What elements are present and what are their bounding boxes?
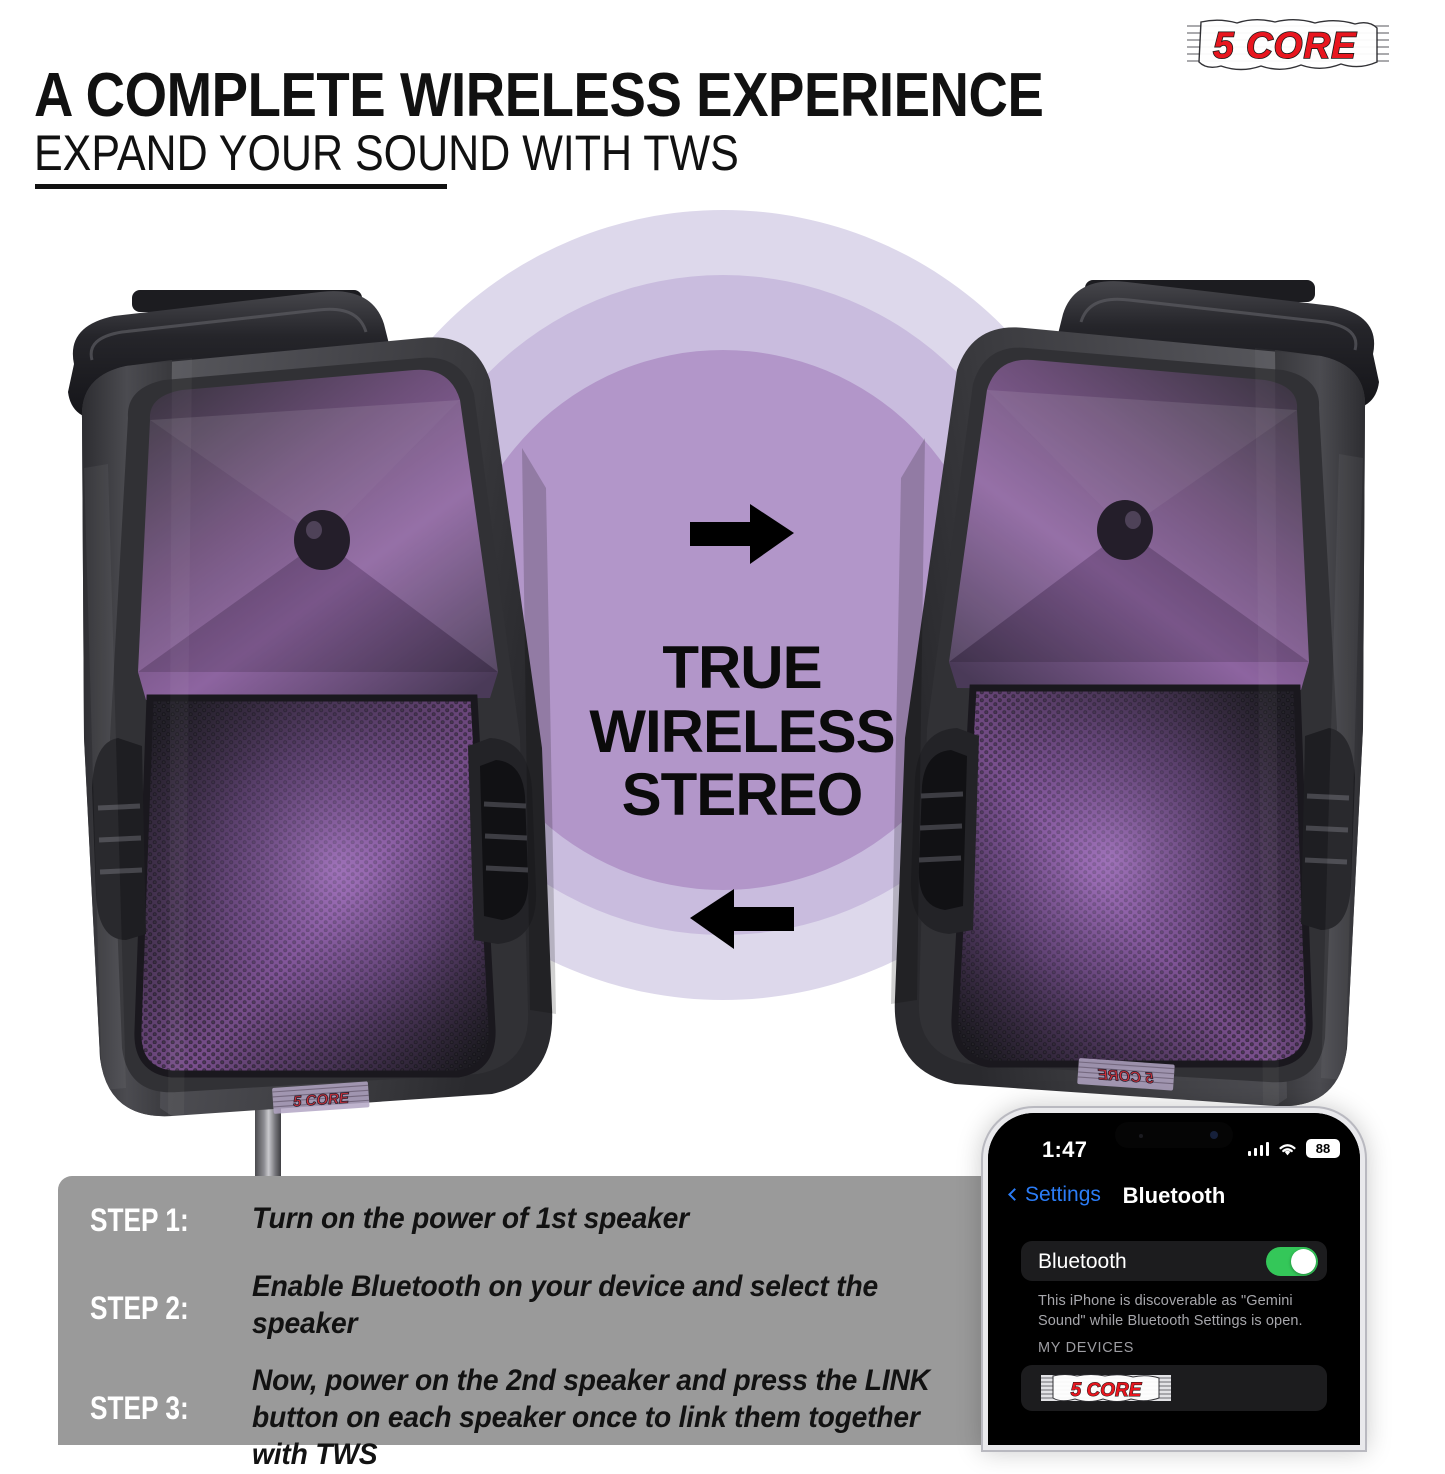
steps-panel: STEP 1: Turn on the power of 1st speaker… [58,1176,1058,1445]
tws-line-1: TRUE [577,636,907,700]
tws-line-3: STEREO [577,763,907,827]
page-subtitle: EXPAND YOUR SOUND WITH TWS [34,124,739,182]
svg-text:5 CORE: 5 CORE [1213,25,1357,66]
cellular-bars-icon [1248,1141,1269,1156]
step-2-text: Enable Bluetooth on your device and sele… [252,1268,966,1342]
arrow-left-icon [688,885,796,953]
device-list-item-5core[interactable]: 5 CORE [1021,1365,1327,1411]
svg-text:5 CORE: 5 CORE [1071,1380,1143,1401]
status-bar-indicators: 88 [1248,1139,1340,1158]
page-title: A COMPLETE WIRELESS EXPERIENCE [34,60,1043,131]
bluetooth-toggle-row[interactable]: Bluetooth [1021,1241,1327,1281]
status-bar-time: 1:47 [1042,1137,1087,1163]
arrow-right-icon [688,500,796,568]
side-handle-cutout [468,738,536,944]
bluetooth-discoverable-note: This iPhone is discoverable as "Gemini S… [1038,1291,1318,1331]
poster-canvas: 5 CORE [0,0,1445,1445]
phone-screen: 1:47 88 Settings Bluetooth [988,1113,1360,1445]
toggle-knob [1291,1249,1316,1274]
step-3-text: Now, power on the 2nd speaker and press … [252,1362,966,1474]
header: A COMPLETE WIRELESS EXPERIENCE EXPAND YO… [0,0,1445,200]
tws-text: TRUE WIRELESS STEREO [577,636,907,827]
phone-notch [1115,1122,1233,1148]
bluetooth-label: Bluetooth [1038,1250,1127,1274]
bluetooth-toggle-switch[interactable] [1266,1247,1318,1276]
step-1-text: Turn on the power of 1st speaker [252,1200,966,1237]
tws-callout: TRUE WIRELESS STEREO [577,500,907,953]
front-camera-icon [1210,1131,1218,1139]
wifi-icon [1277,1141,1298,1157]
earpiece-sensor-icon [1139,1134,1143,1138]
right-speaker: 5 CORE [855,258,1425,1118]
left-speaker: 5 CORE [22,268,592,1128]
tws-line-2: WIRELESS [577,700,907,764]
step-2-label: STEP 2: [90,1290,234,1327]
brand-logo-5core: 5 CORE [1183,16,1393,74]
title-underline [35,184,447,189]
device-brand-logo-5core: 5 CORE [1039,1373,1173,1403]
step-1-label: STEP 1: [90,1202,234,1239]
phone-screen-title: Bluetooth [988,1183,1360,1209]
step-3-label: STEP 3: [90,1390,234,1427]
phone-mockup: 1:47 88 Settings Bluetooth [988,1113,1360,1445]
battery-percent-badge: 88 [1306,1139,1340,1158]
side-handle-cutout [911,728,979,934]
phone-navbar: Settings Bluetooth [988,1171,1360,1219]
my-devices-section-header: MY DEVICES [1038,1340,1134,1356]
